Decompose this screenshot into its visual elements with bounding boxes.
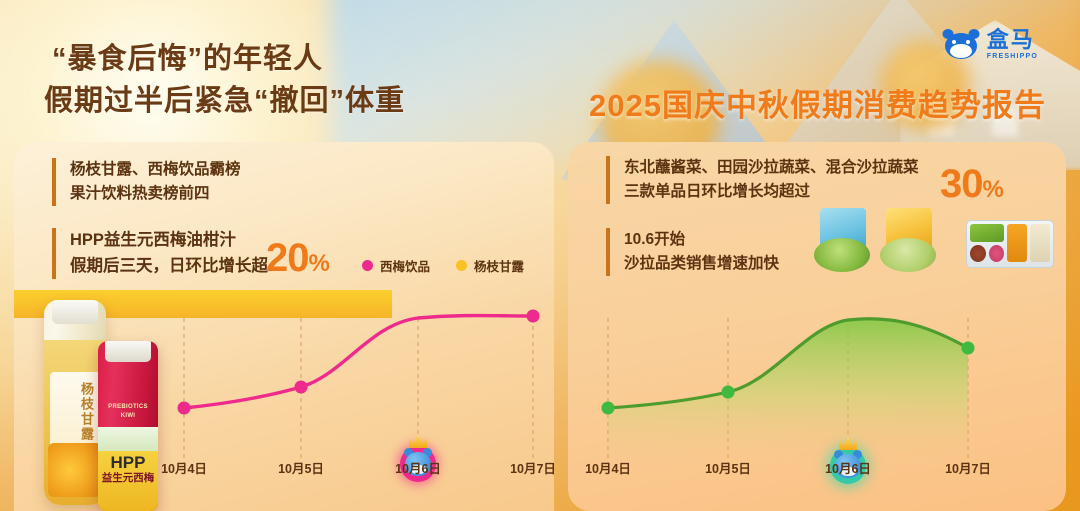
tray-cell-beet [970, 245, 986, 262]
bottle-cap-hpp [105, 341, 151, 362]
product-bottle-yangzhi: 杨枝甘露 [44, 300, 106, 505]
right-block-2-line-2: 沙拉品类销售增速加快 [624, 252, 779, 276]
product-bowl-salad-2 [880, 238, 936, 272]
logo-wordmark: 盒马 FRESHIPPO [987, 29, 1038, 60]
legend-swatch-1 [456, 260, 467, 271]
hippo-logo-svg [941, 28, 981, 60]
product-tray-vegetables [966, 220, 1054, 268]
bottle-subtitle-en-hpp: PREBIOTICS KIWI [102, 403, 154, 421]
left-panel-card: 杨枝甘露、西梅饮品霸榜 果汁饮料热卖榜前四 HPP益生元西梅油柑汁 假期后三天，… [14, 142, 554, 511]
right-panel-card: 东北蘸酱菜、田园沙拉蔬菜、混合沙拉蔬菜 三款单品日环比增长均超过 30% 10.… [568, 142, 1066, 511]
legend-item-0: 西梅饮品 [362, 256, 430, 275]
left-growth-percentage: 20% [266, 238, 330, 278]
tray-cell-cheese [1030, 224, 1050, 262]
datapoint-r-1 [722, 386, 735, 399]
left-product-images: 杨枝甘露 PREBIOTICS KIWI HPP 益生元西梅 [14, 142, 184, 511]
legend-item-1: 杨枝甘露 [456, 256, 524, 275]
brand-logo: 盒马 FRESHIPPO [941, 28, 1038, 60]
right-block-1-line-2: 三款单品日环比增长均超过 [624, 180, 919, 204]
left-growth-symbol: % [309, 250, 330, 277]
legend-label-0: 西梅饮品 [380, 256, 430, 275]
datapoint-r-3 [962, 342, 975, 355]
bottle-desc-hpp: 益生元西梅 [98, 472, 158, 485]
page-title-line1: “暴食后悔”的年轻人 [52, 43, 323, 75]
left-axis-label-3: 10月7日 [510, 458, 554, 477]
hippo-logo-icon [941, 28, 981, 60]
tray-cell-radish [989, 245, 1004, 262]
bottle-mango-image [48, 443, 102, 497]
right-axis-label-1: 10月5日 [705, 458, 751, 477]
datapoint-3 [527, 310, 540, 323]
product-bottle-hpp: PREBIOTICS KIWI HPP 益生元西梅 [98, 341, 158, 511]
left-axis-label-1: 10月5日 [278, 458, 324, 477]
right-growth-number: 30 [940, 162, 983, 206]
right-axis-label-3: 10月7日 [945, 458, 991, 477]
legend-swatch-0 [362, 260, 373, 271]
right-growth-symbol: % [983, 176, 1004, 203]
right-block-2-line-1: 10.6开始 [624, 228, 779, 252]
bottle-cap-yangzhi [52, 300, 98, 324]
right-block-2: 10.6开始 沙拉品类销售增速加快 [606, 228, 779, 276]
report-title: 2025国庆中秋假期消费趋势报告 [589, 80, 1046, 125]
right-block-1: 东北蘸酱菜、田园沙拉蔬菜、混合沙拉蔬菜 三款单品日环比增长均超过 [606, 156, 919, 204]
product-bowl-salad-1 [814, 238, 870, 272]
logo-english-name: FRESHIPPO [987, 53, 1038, 60]
right-growth-percentage: 30% [940, 164, 1004, 204]
series-ximei-line [184, 316, 533, 409]
right-product-images [814, 208, 1064, 278]
datapoint-1 [295, 381, 308, 394]
left-chart-legend: 西梅饮品 杨枝甘露 [362, 256, 524, 275]
series-salad-area [608, 319, 968, 463]
tray-cell-greens [970, 224, 1004, 242]
right-chart: 10月4日 10月5日 10月6日 10月7日 [568, 288, 1066, 511]
page-title-line2: 假期过半后紧急“撤回”体重 [44, 80, 522, 122]
left-growth-number: 20 [266, 236, 309, 280]
bottle-label-text-yangzhi: 杨枝甘露 [77, 382, 96, 442]
left-axis-label-2: 10月6日 [395, 458, 441, 477]
tray-cell-carrot [1007, 224, 1027, 262]
datapoint-r-0 [602, 402, 615, 415]
bottle-band-hpp [98, 427, 158, 451]
right-axis-label-2: 10月6日 [825, 458, 871, 477]
right-chart-svg [568, 288, 1066, 511]
legend-label-1: 杨枝甘露 [474, 256, 524, 275]
infographic-canvas: “暴食后悔”的年轻人 假期过半后紧急“撤回”体重 盒马 FRESHIPPO 20… [0, 0, 1080, 511]
right-block-1-line-1: 东北蘸酱菜、田园沙拉蔬菜、混合沙拉蔬菜 [624, 156, 919, 180]
page-title: “暴食后悔”的年轻人 假期过半后紧急“撤回”体重 [52, 38, 522, 122]
right-axis-label-0: 10月4日 [585, 458, 631, 477]
bottle-brand-hpp: HPP [98, 453, 158, 473]
logo-chinese-name: 盒马 [987, 29, 1038, 51]
